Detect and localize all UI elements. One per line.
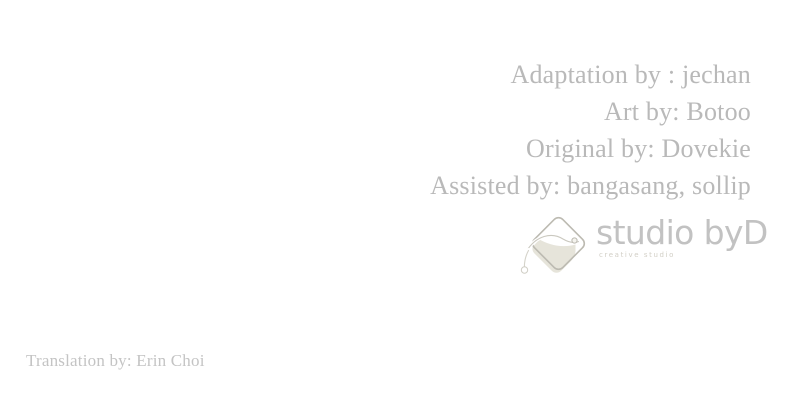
credit-line-art: Art by: Botoo [430, 93, 751, 130]
credits-page: Adaptation by : jechan Art by: Botoo Ori… [0, 0, 800, 406]
translation-credit: Translation by: Erin Choi [26, 350, 205, 372]
studio-byd-text-lockup: studio byD creative studio [596, 216, 756, 260]
credit-line-assisted: Assisted by: bangasang, sollip [430, 167, 751, 204]
studio-byd-diamond-mark-icon [518, 203, 596, 281]
studio-byd-tagline: creative studio [599, 251, 756, 260]
credit-line-original: Original by: Dovekie [430, 130, 751, 167]
credit-line-adaptation: Adaptation by : jechan [430, 56, 751, 93]
studio-byd-logo: studio byD creative studio [518, 203, 758, 283]
studio-byd-wordmark: studio byD [596, 216, 756, 250]
credits-block: Adaptation by : jechan Art by: Botoo Ori… [430, 56, 751, 204]
